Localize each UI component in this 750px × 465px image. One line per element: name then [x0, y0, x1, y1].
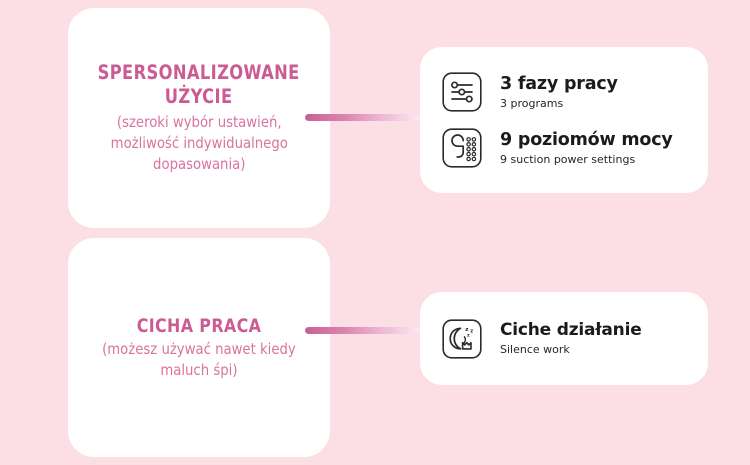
feature-row-silence: z z z Ciche działanie Silence work — [440, 317, 688, 361]
feature-title-programs: 3 fazy pracy — [500, 74, 618, 94]
personalization-subline-line3: dopasowania) — [153, 155, 245, 173]
feature-row-power-levels: 9 poziomów mocy 9 suction power settings — [440, 126, 688, 170]
sleeping-cat-moon-icon: z z z — [440, 317, 484, 361]
quiet-subline: (możesz używać nawet kiedy maluch śpi) — [102, 339, 296, 381]
personalization-subline-line1: (szeroki wybór ustawień, — [117, 113, 282, 131]
svg-text:z: z — [465, 327, 468, 333]
features-card-top: 3 fazy pracy 3 programs — [420, 47, 708, 193]
feature-row-programs: 3 fazy pracy 3 programs — [440, 70, 688, 114]
infographic-canvas: SPERSONALIZOWANE UŻYCIE (szeroki wybór u… — [0, 0, 750, 465]
feature-text-programs: 3 fazy pracy 3 programs — [500, 74, 618, 111]
quiet-subline-line2: maluch śpi) — [160, 361, 237, 379]
quiet-subline-line1: (możesz używać nawet kiedy — [102, 340, 296, 358]
personalization-text-card: SPERSONALIZOWANE UŻYCIE (szeroki wybór u… — [68, 8, 330, 228]
feature-subtitle-silence: Silence work — [500, 342, 642, 357]
personalization-subline: (szeroki wybór ustawień, możliwość indyw… — [110, 112, 287, 175]
quiet-headline: CICHA PRACA — [137, 314, 262, 338]
feature-text-silence: Ciche działanie Silence work — [500, 320, 642, 357]
feature-subtitle-programs: 3 programs — [500, 96, 618, 111]
quiet-operation-text-card: CICHA PRACA (możesz używać nawet kiedy m… — [68, 238, 330, 457]
connector-line-top — [305, 114, 433, 121]
svg-text:z: z — [470, 328, 473, 334]
personalization-headline: SPERSONALIZOWANE UŻYCIE — [98, 61, 300, 109]
quiet-headline-line1: CICHA PRACA — [137, 315, 262, 337]
personalization-subline-line2: możliwość indywidualnego — [110, 134, 287, 152]
sliders-icon — [440, 70, 484, 114]
feature-title-power-levels: 9 poziomów mocy — [500, 130, 673, 150]
feature-title-silence: Ciche działanie — [500, 320, 642, 340]
personalization-headline-line1: SPERSONALIZOWANE — [98, 61, 300, 84]
nine-power-levels-icon — [440, 126, 484, 170]
personalization-headline-line2: UŻYCIE — [165, 85, 233, 108]
feature-text-power-levels: 9 poziomów mocy 9 suction power settings — [500, 130, 673, 167]
connector-line-bottom — [305, 327, 433, 334]
features-card-bottom: z z z Ciche działanie Silence work — [420, 292, 708, 385]
feature-subtitle-power-levels: 9 suction power settings — [500, 152, 673, 167]
svg-text:z: z — [467, 333, 470, 338]
